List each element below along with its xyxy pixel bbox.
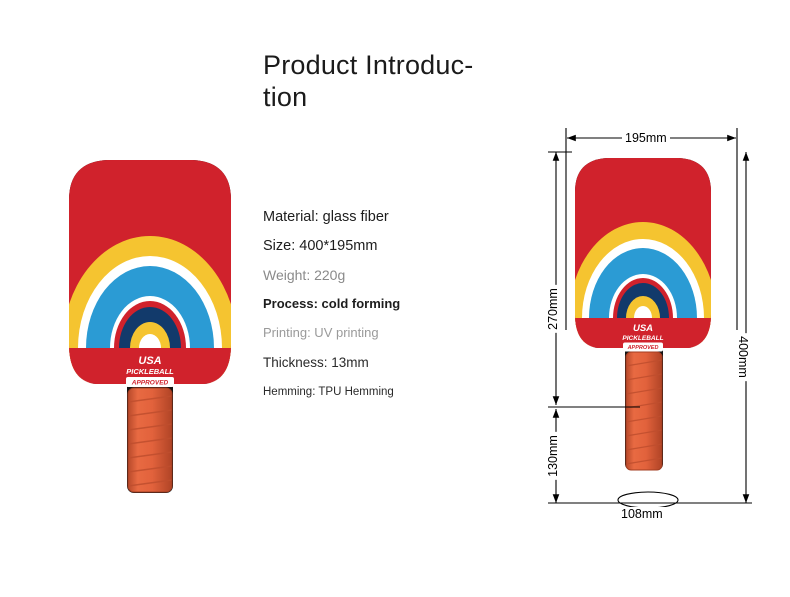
spec-item-process: Process: cold forming — [263, 296, 473, 311]
spec-item-thickness: Thickness: 13mm — [263, 355, 473, 370]
spec-list: Material: glass fiber Size: 400*195mm We… — [263, 209, 473, 398]
page-title-line-2: tion — [263, 82, 307, 112]
spec-item-weight: Weight: 220g — [263, 267, 473, 283]
dim-label-270mm: 270mm — [546, 285, 560, 333]
page-title-line-1: Product Introduc- — [263, 50, 474, 80]
page-title: Product Introduc- tion — [263, 49, 513, 113]
spec-item-printing: Printing: UV printing — [263, 325, 473, 340]
dim-label-400mm: 400mm — [736, 333, 750, 381]
dim-label-108mm: 108mm — [618, 507, 666, 521]
badge-line-pickleball: PICKLEBALL — [622, 335, 663, 342]
spec-item-size: Size: 400*195mm — [263, 238, 473, 254]
badge-line-usa: USA — [633, 323, 653, 334]
dim-label-130mm: 130mm — [546, 432, 560, 480]
paddle-grip-right — [626, 352, 662, 470]
badge-line-pickleball: PICKLEBALL — [126, 367, 174, 376]
paddle-grip-left — [128, 388, 172, 492]
badge-line-approved: APPROVED — [131, 380, 169, 387]
badge-line-approved: APPROVED — [627, 345, 659, 351]
product-introduction-slide: Product Introduc- tion Material: glass f… — [0, 0, 790, 597]
spec-item-hemming: Hemming: TPU Hemming — [263, 386, 473, 398]
paddle-image-left: USA PICKLEBALL APPROVED — [55, 148, 245, 500]
dim-label-195mm: 195mm — [622, 131, 670, 145]
paddle-image-right: USA PICKLEBALL APPROVED — [563, 148, 723, 500]
spec-item-material: Material: glass fiber — [263, 209, 473, 225]
badge-line-usa: USA — [138, 355, 161, 367]
